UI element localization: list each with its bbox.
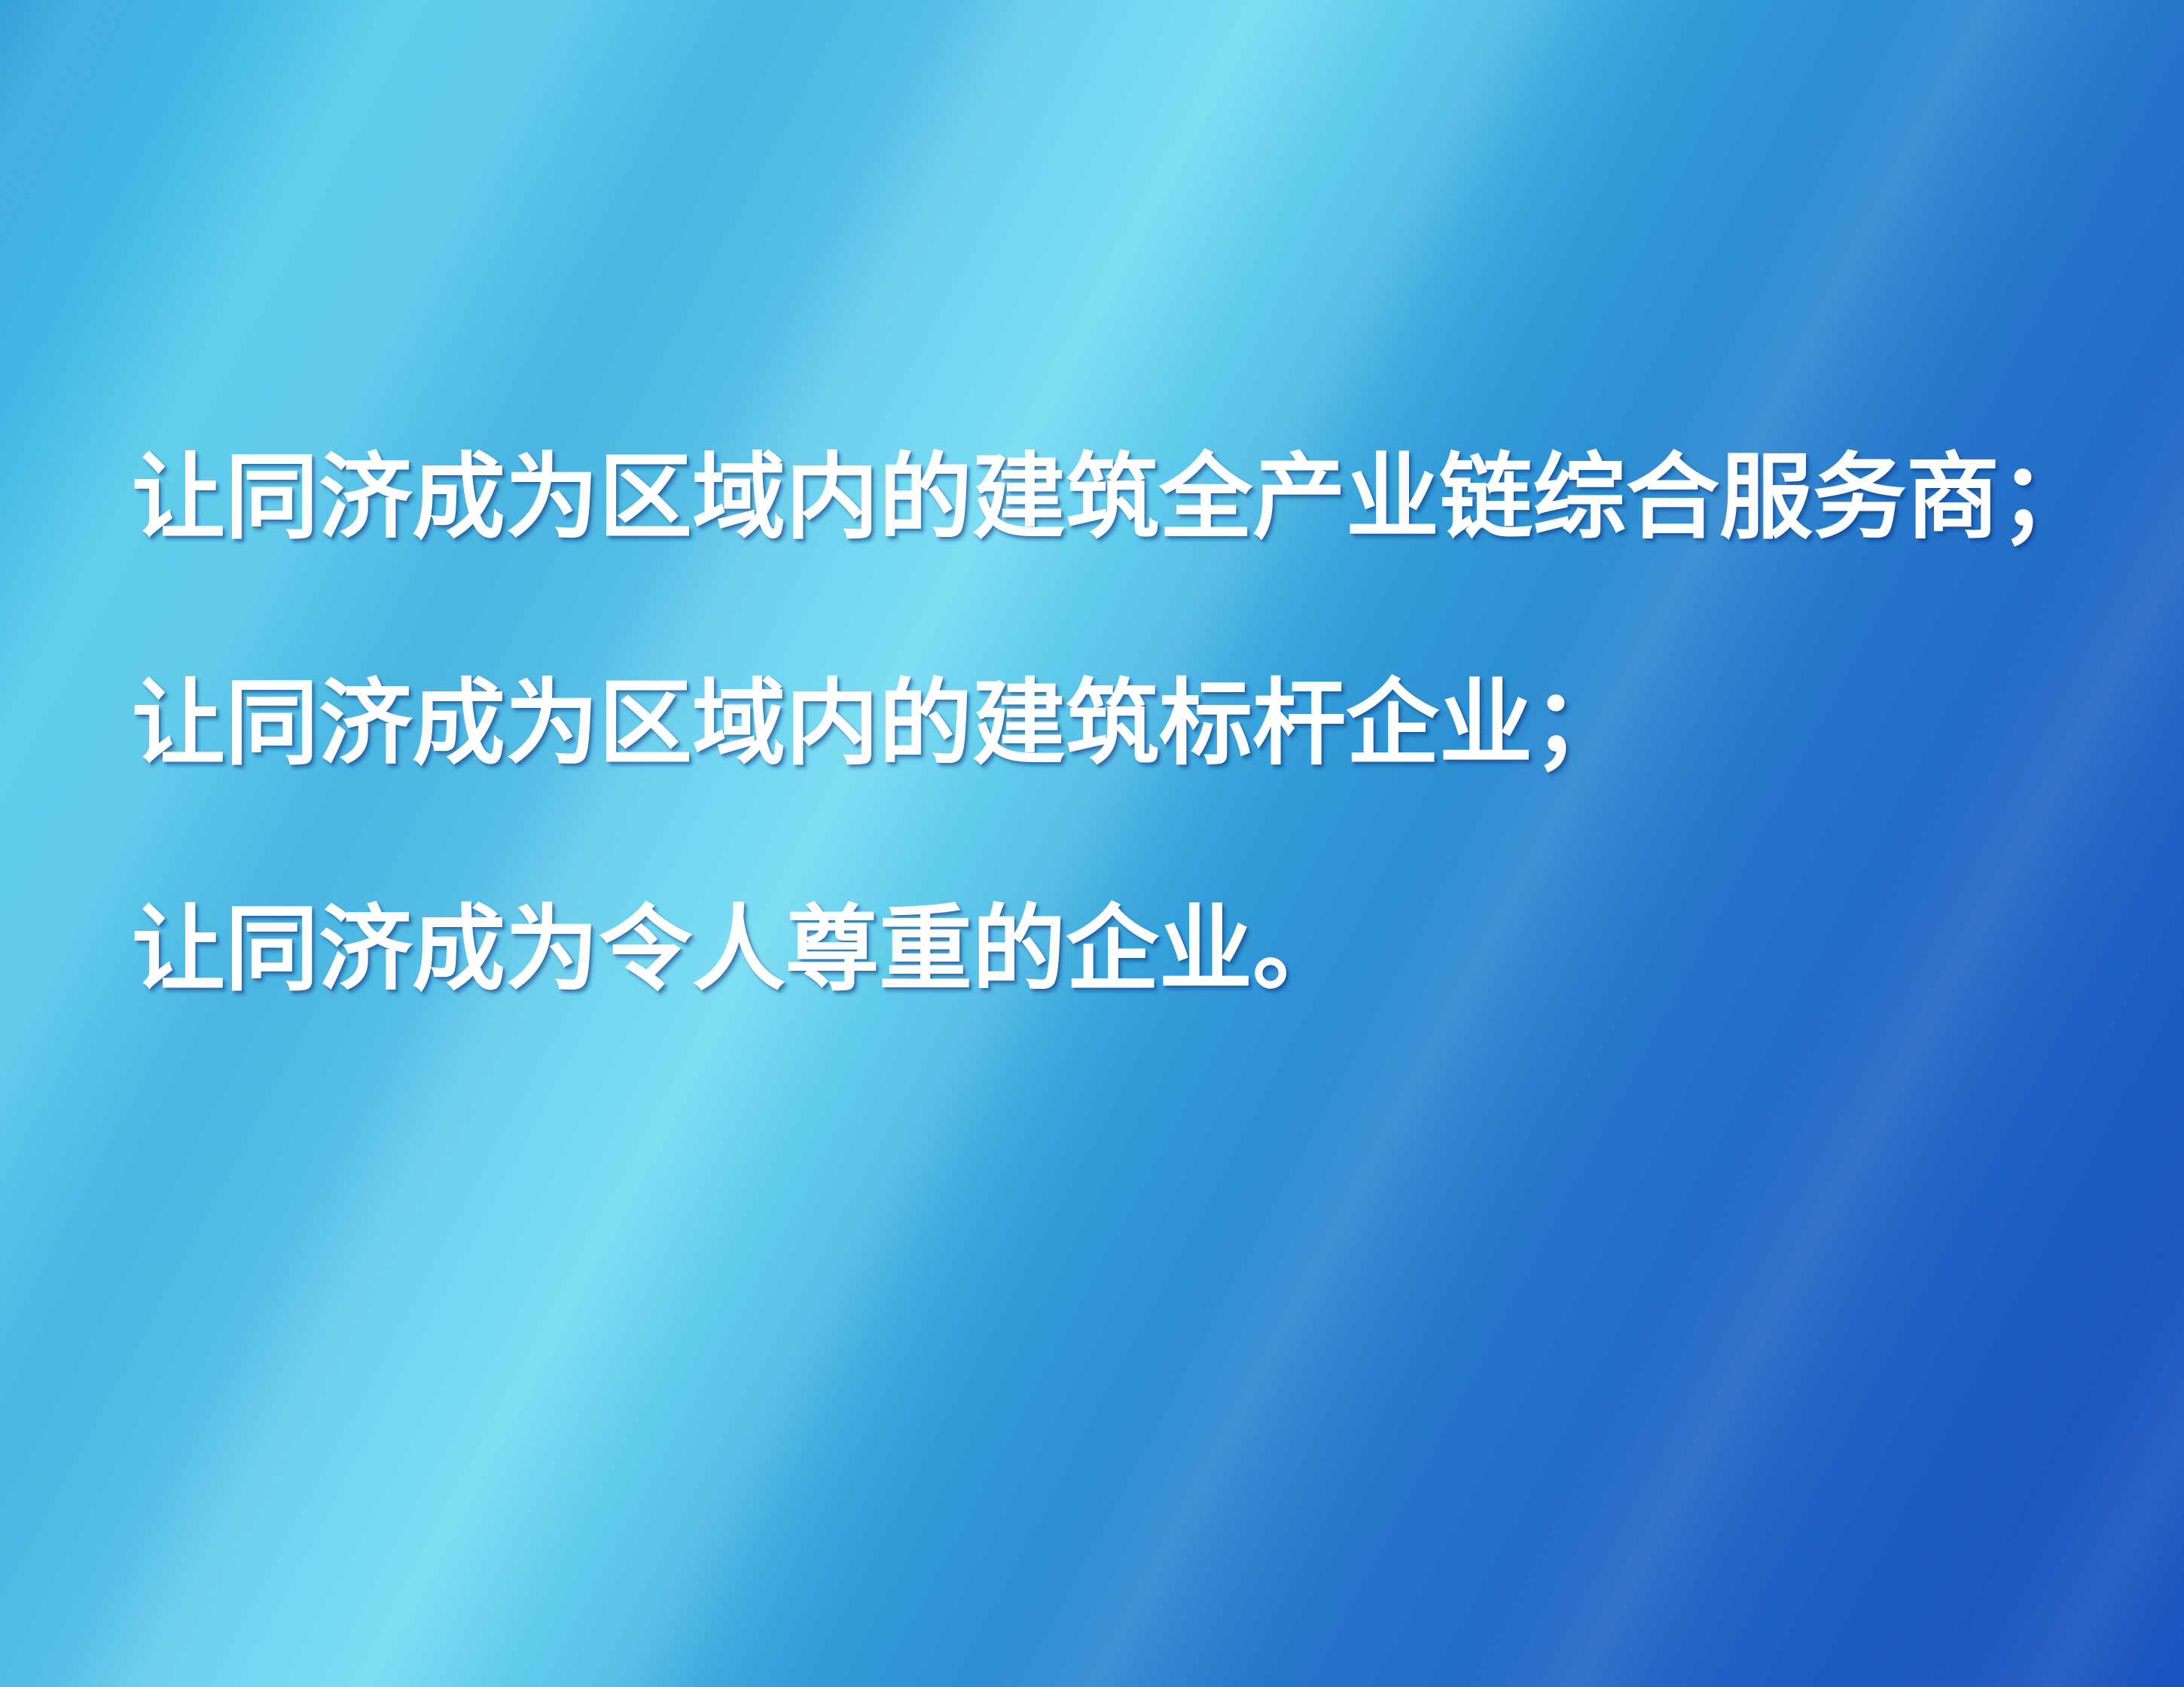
slide-text-line-3: 让同济成为令人尊重的企业。 [132, 904, 2090, 997]
slide-text-block: 让同济成为区域内的建筑全产业链综合服务商； 让同济成为区域内的建筑标杆企业； 让… [132, 452, 2090, 997]
slide-text-line-1: 让同济成为区域内的建筑全产业链综合服务商； [132, 452, 2090, 545]
presentation-slide: 让同济成为区域内的建筑全产业链综合服务商； 让同济成为区域内的建筑标杆企业； 让… [0, 0, 2184, 1687]
slide-text-line-2: 让同济成为区域内的建筑标杆企业； [132, 678, 2090, 771]
